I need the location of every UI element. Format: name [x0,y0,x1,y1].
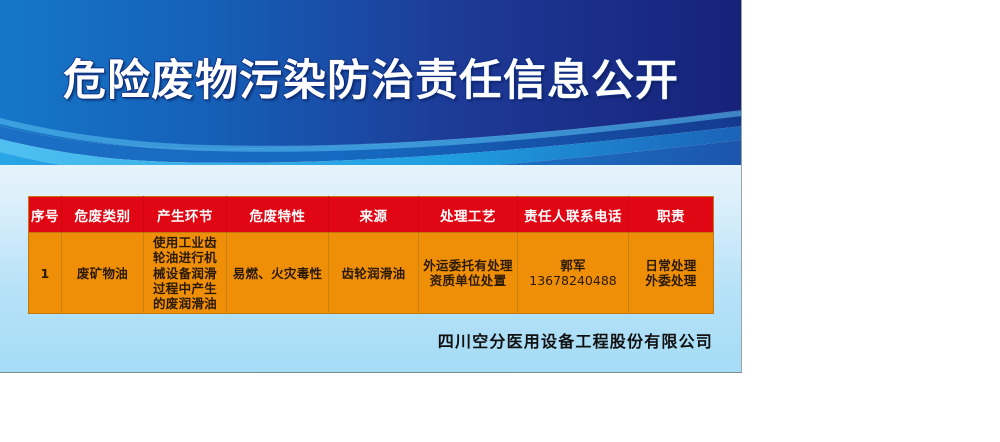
column-header-category: 危废类别 [62,197,144,233]
cell-source: 齿轮润滑油 [329,233,419,314]
cell-hazard-property: 易燃、火灾毒性 [227,233,329,314]
cell-category: 废矿物油 [62,233,144,314]
page-title: 危险废物污染防治责任信息公开 [0,46,742,108]
company-name: 四川空分医用设备工程股份有限公司 [0,328,713,352]
column-header-contact: 责任人联系电话 [518,197,629,233]
cell-treatment-process: 外运委托有处理资质单位处置 [419,233,518,314]
table-header-row: 序号 危废类别 产生环节 危废特性 来源 处理工艺 责任人联系电话 职责 [29,197,714,233]
contact-phone: 13678240488 [521,273,625,288]
contact-name: 郭军 [521,258,625,273]
column-header-property: 危废特性 [227,197,329,233]
header-banner: 危险废物污染防治责任信息公开 [0,0,742,165]
hazardous-waste-table-wrapper: 序号 危废类别 产生环节 危废特性 来源 处理工艺 责任人联系电话 职责 1 废… [28,196,713,314]
column-header-process: 处理工艺 [419,197,518,233]
column-header-index: 序号 [29,197,62,233]
cell-generation-stage: 使用工业齿轮油进行机械设备润滑过程中产生的废润滑油 [144,233,227,314]
cell-duty: 日常处理 外委处理 [629,233,714,314]
hazardous-waste-table: 序号 危废类别 产生环节 危废特性 来源 处理工艺 责任人联系电话 职责 1 废… [28,196,714,314]
poster-container: 危险废物污染防治责任信息公开 序号 危废类别 产生环节 危废特性 来源 [0,0,742,373]
column-header-source: 来源 [329,197,419,233]
column-header-stage: 产生环节 [144,197,227,233]
column-header-duty: 职责 [629,197,714,233]
duty-line-2: 外委处理 [632,273,710,288]
table-row: 1 废矿物油 使用工业齿轮油进行机械设备润滑过程中产生的废润滑油 易燃、火灾毒性… [29,233,714,314]
duty-line-1: 日常处理 [632,258,710,273]
cell-contact: 郭军 13678240488 [518,233,629,314]
cell-index: 1 [29,233,62,314]
